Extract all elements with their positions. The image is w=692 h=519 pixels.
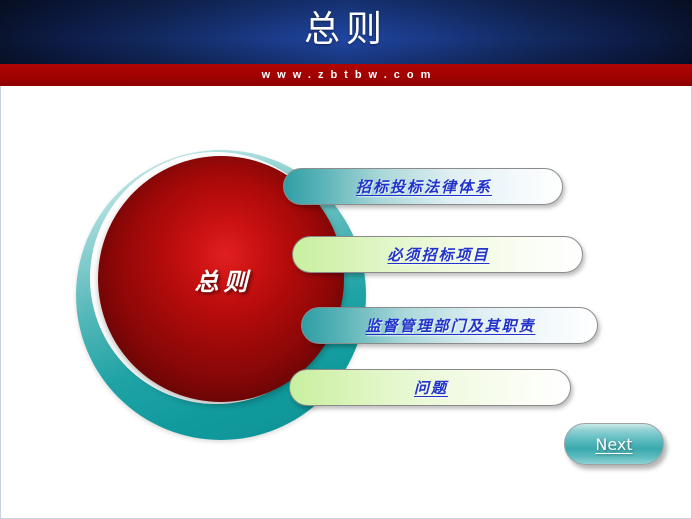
- next-button[interactable]: Next: [564, 423, 664, 465]
- branch-item-2[interactable]: 必须招标项目: [292, 236, 583, 273]
- website-url-text: www.zbtbw.com: [0, 64, 692, 86]
- next-button-label: Next: [595, 435, 632, 454]
- branch-item-1[interactable]: 招标投标法律体系: [283, 168, 563, 205]
- branch-item-4-label: 问题: [412, 377, 448, 398]
- page-title: 总则: [0, 4, 692, 56]
- branch-item-1-label: 招标投标法律体系: [354, 176, 492, 197]
- branch-item-3[interactable]: 监督管理部门及其职责: [301, 307, 598, 344]
- branch-item-3-label: 监督管理部门及其职责: [363, 315, 535, 336]
- branch-item-2-label: 必须招标项目: [385, 244, 489, 265]
- branch-item-4[interactable]: 问题: [289, 369, 571, 406]
- presentation-slide: 总则 www.zbtbw.com 总则 招标投标法律体系 必须招标项目 监督管理…: [0, 0, 692, 519]
